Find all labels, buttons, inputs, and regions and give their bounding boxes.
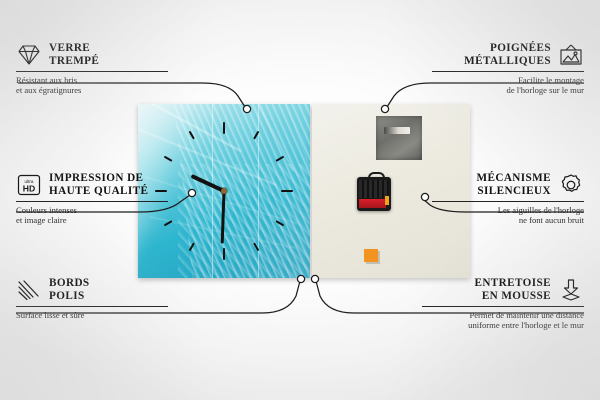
callout-header: ultra HD IMPRESSION DE HAUTE QUALITÉ: [16, 172, 184, 198]
clock-tick: [275, 156, 284, 162]
callout-impression-hd: ultra HD IMPRESSION DE HAUTE QUALITÉ Cou…: [16, 172, 184, 226]
callout-subtitle-line-1: Couleurs intenses: [16, 205, 184, 215]
callout-divider: [432, 71, 584, 72]
callout-title-line-2: HAUTE QUALITÉ: [49, 185, 148, 198]
callout-subtitle-line-1: Facilite le montage: [416, 75, 584, 85]
callout-subtitle-line-1: Permet de maintenir une distance: [406, 310, 584, 320]
svg-text:HD: HD: [23, 183, 35, 193]
callout-divider: [16, 306, 168, 307]
battery: [359, 199, 386, 208]
hanger-keyhole-slot: [384, 127, 410, 134]
callout-title-line-2: EN MOUSSE: [406, 290, 551, 303]
callout-subtitle-line-2: ne font aucun bruit: [416, 215, 584, 225]
callout-title-line-1: MÉCANISME: [416, 172, 551, 185]
clock-tick: [281, 190, 293, 192]
ultra-hd-icon: ultra HD: [16, 172, 42, 198]
callout-title-line-2: POLIS: [49, 290, 90, 303]
foam-spacer-pad: [364, 249, 378, 262]
callout-mecanisme-silencieux: MÉCANISME SILENCIEUX Les aiguilles de l'…: [416, 172, 584, 226]
callout-subtitle-line-1: Résistant aux bris: [16, 75, 184, 85]
callout-title-line-2: MÉTALLIQUES: [416, 55, 551, 68]
clock-tick: [253, 131, 259, 140]
battery-terminal: [385, 196, 389, 205]
callout-title-line-1: IMPRESSION DE: [49, 172, 148, 185]
callout-divider: [16, 201, 168, 202]
wall-frame-icon: [558, 42, 584, 68]
callout-divider: [422, 306, 584, 307]
clock-tick: [223, 248, 225, 260]
clock-tick: [189, 242, 195, 251]
callout-title-line-1: ENTRETOISE: [406, 277, 551, 290]
clock-tick: [164, 156, 173, 162]
diamond-icon: [16, 42, 42, 68]
clock-tick: [275, 220, 284, 226]
callout-title-line-1: VERRE: [49, 42, 99, 55]
callout-subtitle-line-2: uniforme entre l'horloge et le mur: [406, 320, 584, 330]
callout-divider: [16, 71, 168, 72]
callout-subtitle-line-2: de l'horloge sur le mur: [416, 85, 584, 95]
clock-center-cap: [221, 188, 227, 194]
callout-bords-polis: BORDS POLIS Surface lisse et sûre: [16, 277, 184, 320]
polished-edges-icon: [16, 277, 42, 303]
clock-tick: [223, 122, 225, 134]
callout-divider: [432, 201, 584, 202]
callout-entretoise-en-mousse: ENTRETOISE EN MOUSSE Permet de maintenir…: [406, 277, 584, 331]
metal-hanger-plate: [376, 116, 422, 160]
callout-subtitle-line-1: Les aiguilles de l'horloge: [416, 205, 584, 215]
infographic-canvas: VERRE TREMPÉ Résistant aux bris et aux é…: [0, 0, 600, 400]
callout-title-line-1: BORDS: [49, 277, 90, 290]
callout-header: ENTRETOISE EN MOUSSE: [406, 277, 584, 303]
callout-title-line-2: SILENCIEUX: [416, 185, 551, 198]
callout-poignees-metalliques: POIGNÉES MÉTALLIQUES Facilite le montage…: [416, 42, 584, 96]
callout-subtitle-line-1: Surface lisse et sûre: [16, 310, 184, 320]
gear-icon: [558, 172, 584, 198]
callout-header: VERRE TREMPÉ: [16, 42, 184, 68]
callout-subtitle-line-2: et image claire: [16, 215, 184, 225]
callout-title-line-2: TREMPÉ: [49, 55, 99, 68]
callout-header: MÉCANISME SILENCIEUX: [416, 172, 584, 198]
callout-subtitle-line-2: et aux égratignures: [16, 85, 184, 95]
callout-header: POIGNÉES MÉTALLIQUES: [416, 42, 584, 68]
callout-verre-trempe: VERRE TREMPÉ Résistant aux bris et aux é…: [16, 42, 184, 96]
clock-mechanism: [357, 177, 391, 211]
clock-tick: [189, 131, 195, 140]
foam-spacer-arrow-icon: [558, 277, 584, 303]
callout-header: BORDS POLIS: [16, 277, 184, 303]
clock-tick: [253, 242, 259, 251]
callout-title-line-1: POIGNÉES: [416, 42, 551, 55]
